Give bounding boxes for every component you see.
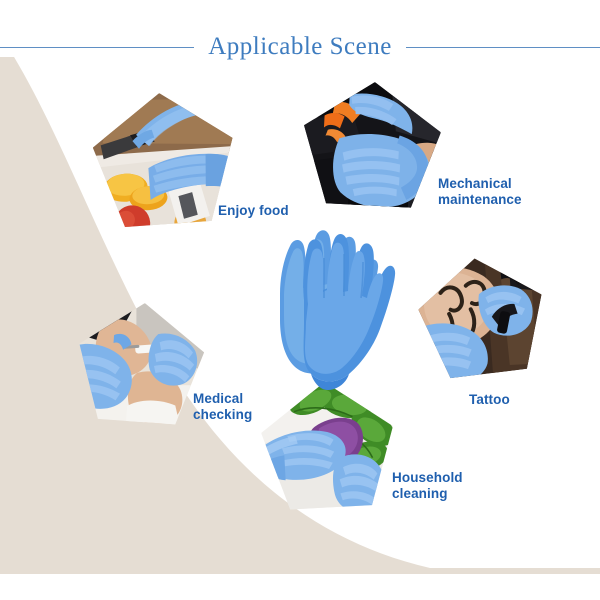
scene-label-tattoo: Tattoo: [469, 392, 510, 408]
scene-label-mechanical-maintenance: Mechanical maintenance: [438, 176, 522, 207]
page-title: Applicable Scene: [0, 27, 600, 67]
bottom-white-strip: [0, 574, 600, 600]
center-gloves-image: [236, 228, 396, 393]
page-title-text: Applicable Scene: [194, 30, 406, 64]
poster-canvas: Applicable Scene: [0, 0, 600, 600]
scene-label-household-cleaning: Household cleaning: [392, 470, 463, 501]
scene-label-enjoy-food: Enjoy food: [218, 203, 289, 219]
scene-label-medical-checking: Medical checking: [193, 391, 252, 422]
